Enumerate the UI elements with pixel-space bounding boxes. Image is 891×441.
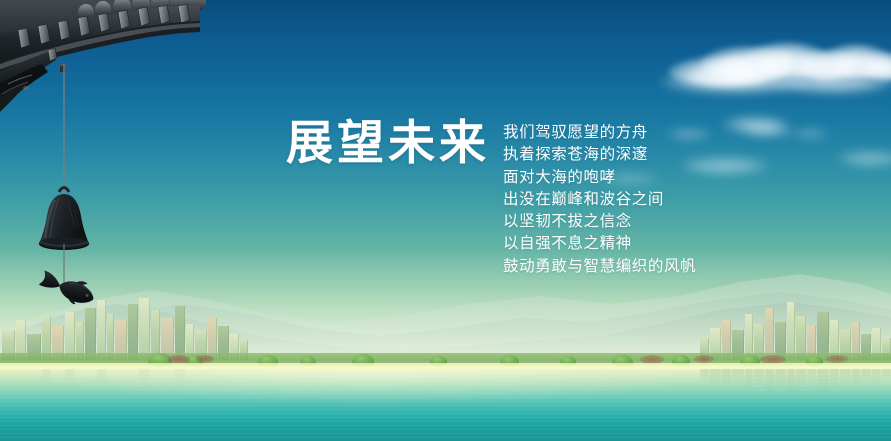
poem-line: 以自强不息之精神 (503, 233, 733, 255)
poem-line: 以坚韧不拔之信念 (503, 211, 733, 233)
poem-line: 面对大海的咆哮 (503, 167, 733, 189)
poem-line: 出没在巅峰和波谷之间 (503, 189, 733, 211)
page-title: 展望未来 (286, 118, 490, 167)
lake-water (0, 369, 891, 441)
poem-block: 我们驾驭愿望的方舟 执着探索苍海的深邃 面对大海的咆哮 出没在巅峰和波谷之间 以… (503, 122, 733, 278)
water-ripples (0, 369, 891, 441)
poem-line: 我们驾驭愿望的方舟 (503, 122, 733, 144)
poem-line: 鼓动勇敢与智慧编织的风帆 (503, 256, 733, 278)
poem-line: 执着探索苍海的深邃 (503, 144, 733, 166)
banner-image: 展望未来 我们驾驭愿望的方舟 执着探索苍海的深邃 面对大海的咆哮 出没在巅峰和波… (0, 0, 891, 441)
